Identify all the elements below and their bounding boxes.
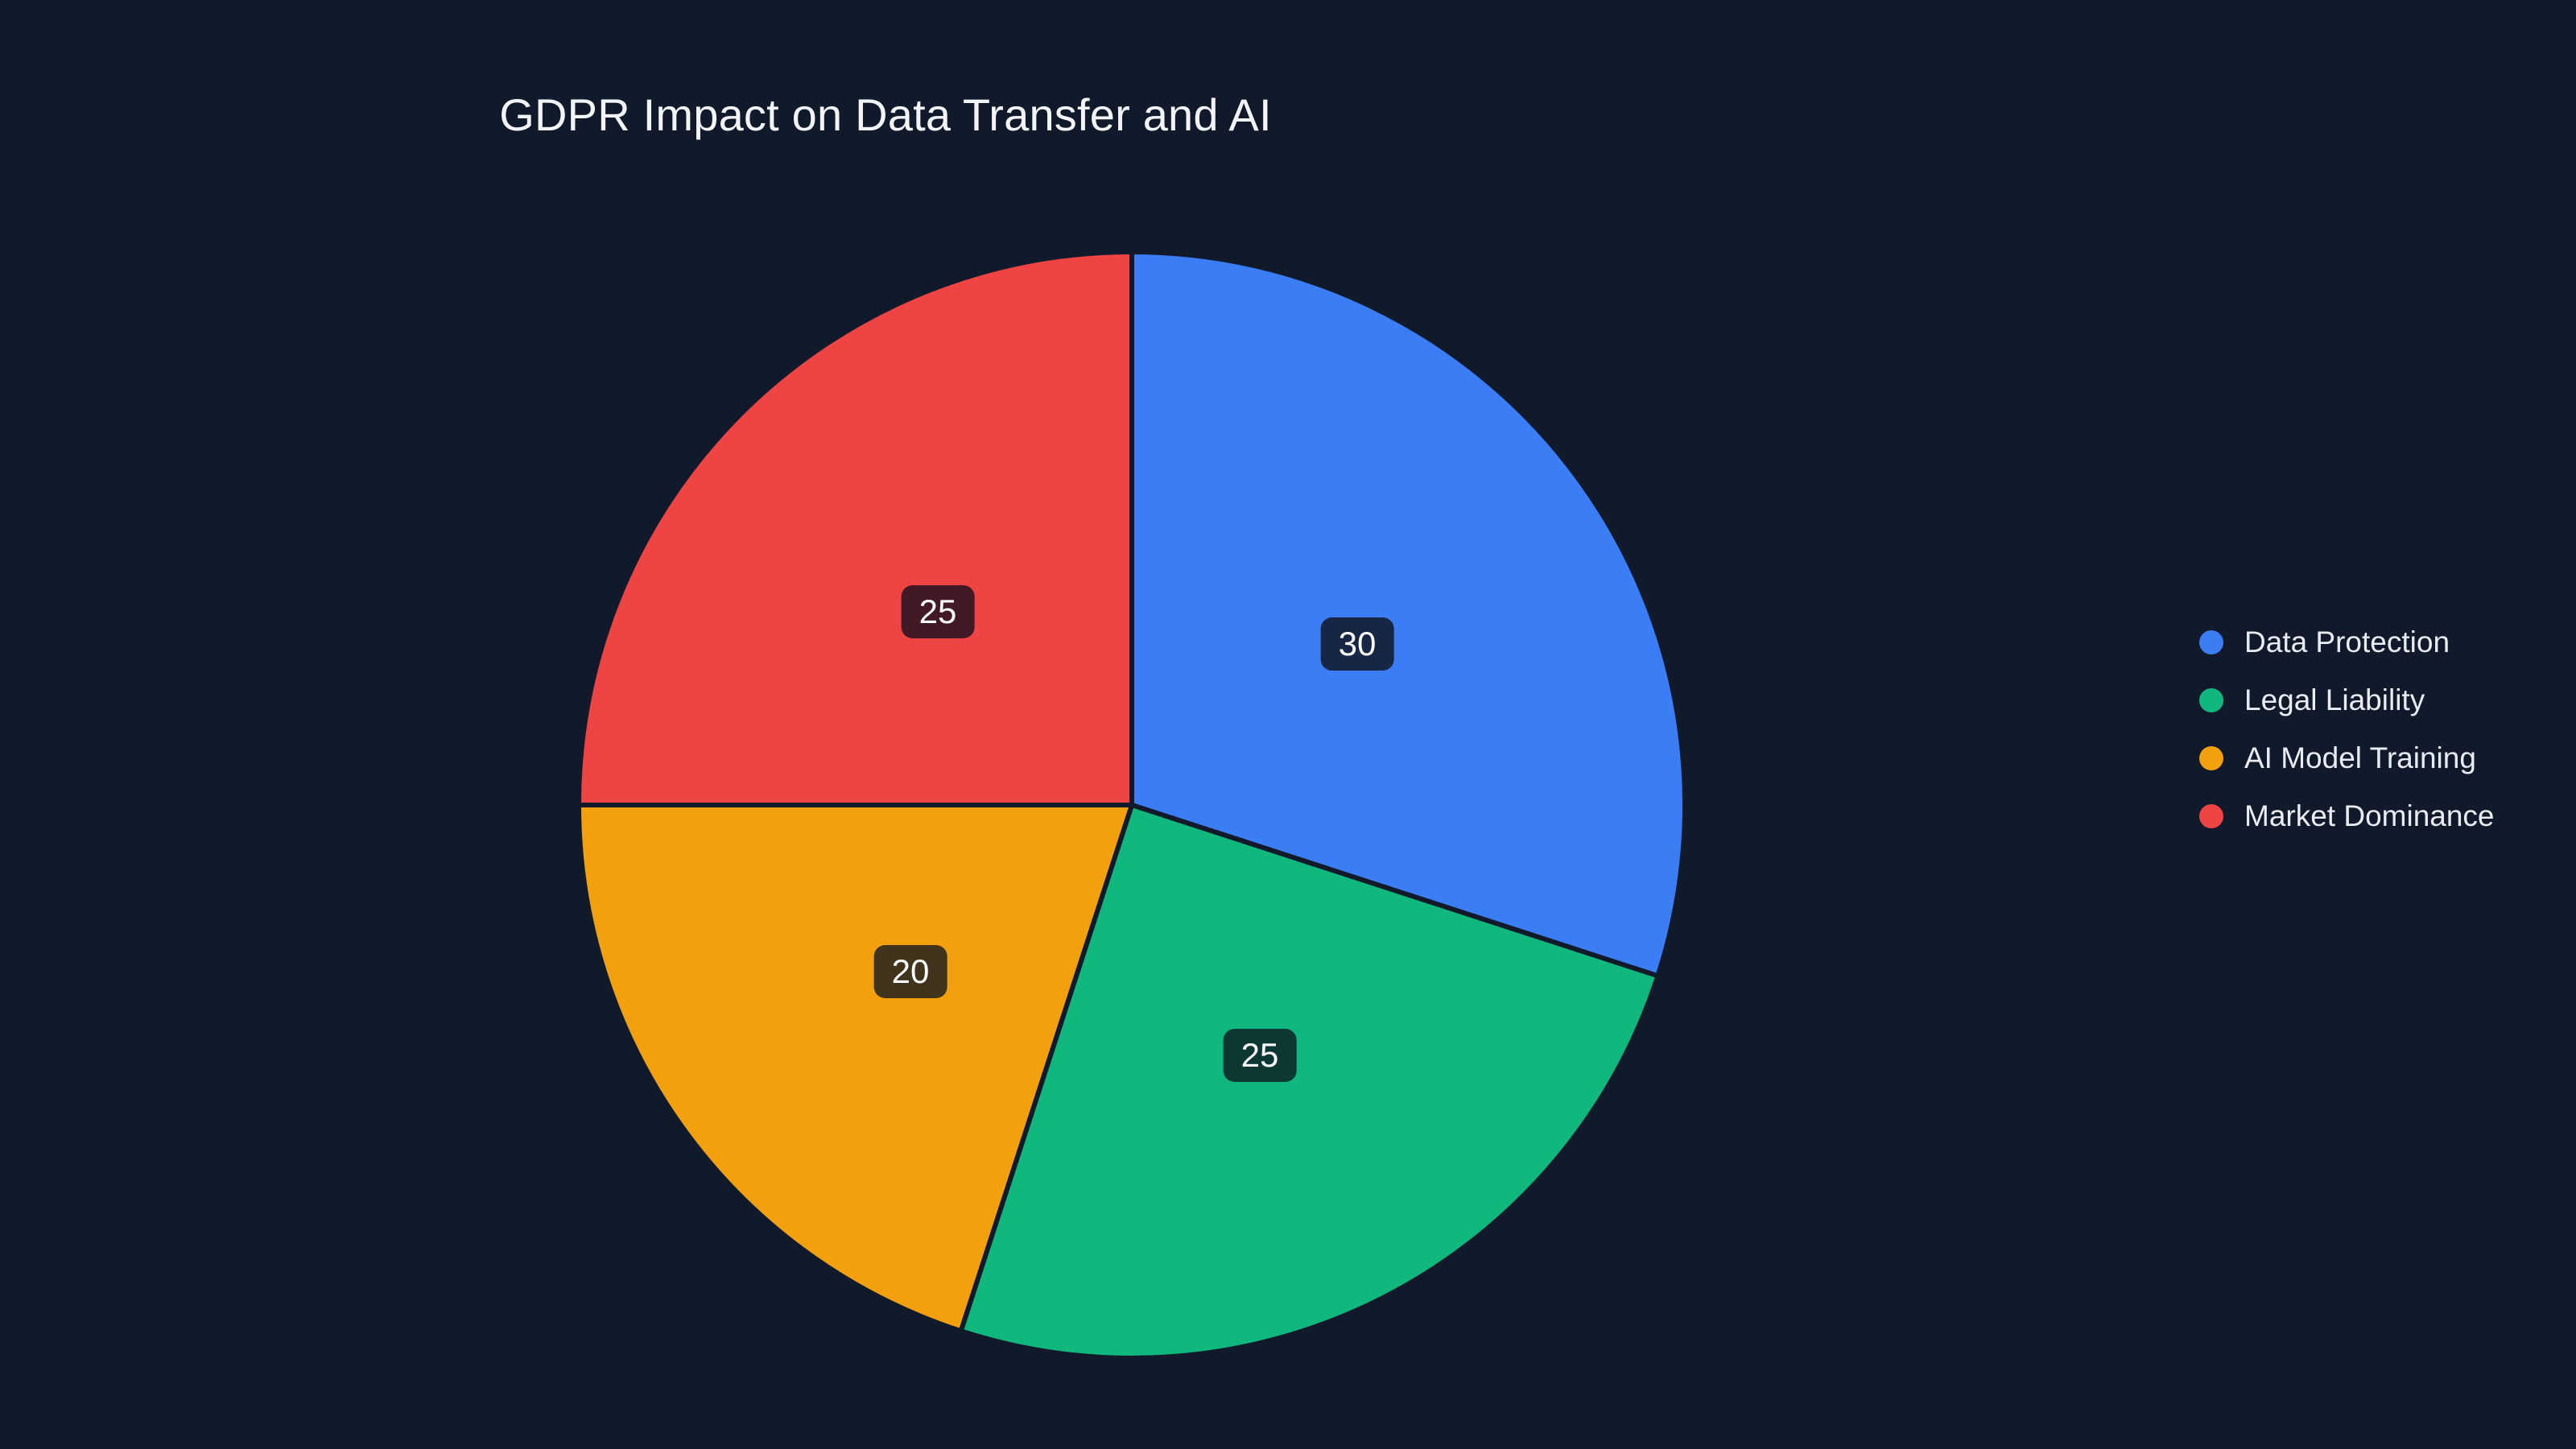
slice-value-label: 25 [1224, 1029, 1297, 1082]
legend-item[interactable]: AI Model Training [2199, 729, 2537, 787]
slice-value-label: 25 [902, 585, 975, 638]
pie-slices [579, 252, 1685, 1358]
pie-chart: 30252025 [0, 0, 2576, 1449]
slice-value-label: 30 [1321, 617, 1394, 671]
legend-swatch-icon [2199, 630, 2223, 654]
chart-canvas: GDPR Impact on Data Transfer and AI 3025… [0, 0, 2576, 1449]
legend-swatch-icon [2199, 688, 2223, 712]
pie-svg [0, 0, 2576, 1449]
slice-value-label: 20 [874, 945, 947, 998]
legend-item-label: Market Dominance [2244, 799, 2495, 833]
legend-item-label: Data Protection [2244, 625, 2450, 659]
legend-swatch-icon [2199, 746, 2223, 770]
legend: Data ProtectionLegal LiabilityAI Model T… [2199, 613, 2537, 845]
legend-item[interactable]: Legal Liability [2199, 671, 2537, 729]
pie-slice[interactable] [579, 252, 1132, 805]
legend-item[interactable]: Market Dominance [2199, 787, 2537, 845]
legend-swatch-icon [2199, 804, 2223, 828]
legend-item-label: Legal Liability [2244, 683, 2425, 717]
legend-item[interactable]: Data Protection [2199, 613, 2537, 671]
legend-item-label: AI Model Training [2244, 741, 2476, 775]
